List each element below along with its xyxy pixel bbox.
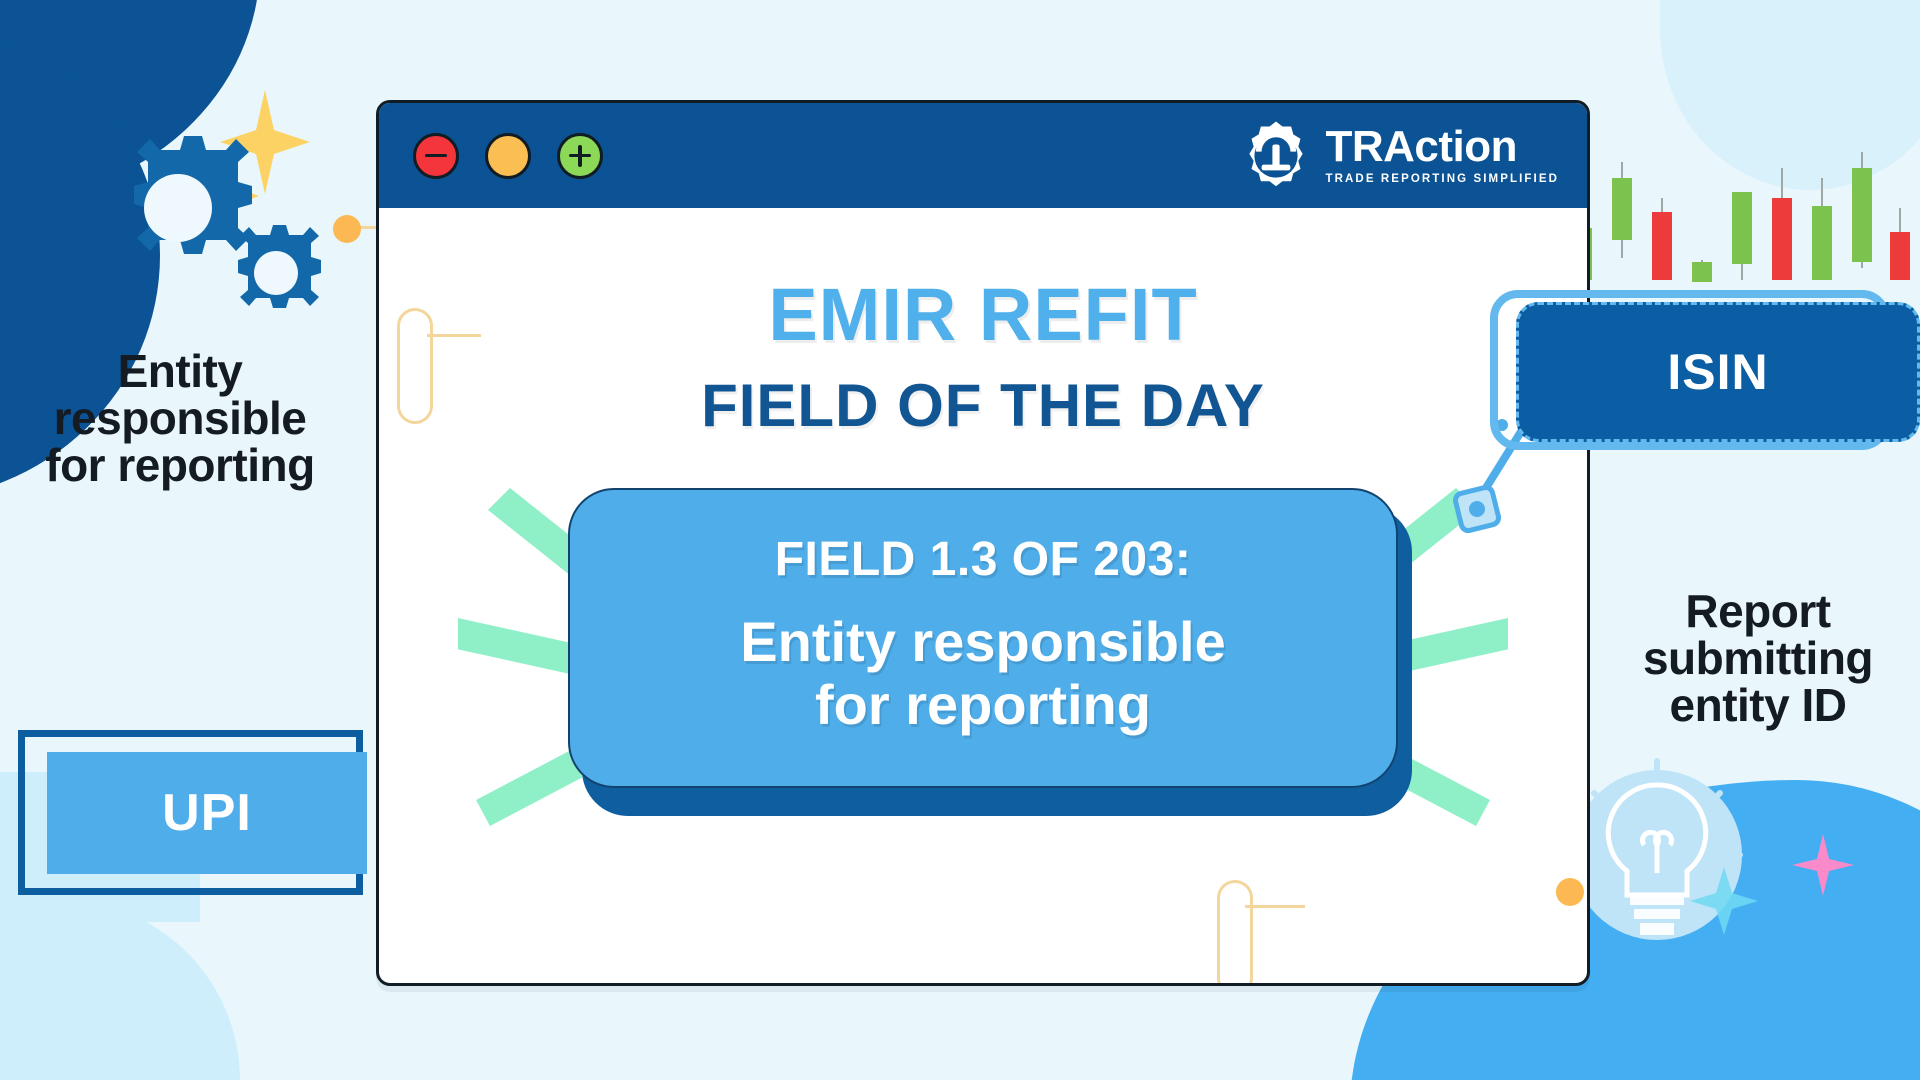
- gear-large-icon: [134, 136, 252, 254]
- field-name: Entity responsible for reporting: [740, 611, 1225, 736]
- field-card-wrapper: FIELD 1.3 OF 203: Entity responsible for…: [568, 488, 1398, 788]
- minus-icon: [425, 154, 447, 158]
- traction-wordmark: TRAction TRADE REPORTING SIMPLIFIED: [1326, 125, 1560, 186]
- connector-pill-line-left: [427, 334, 481, 337]
- connector-pill-line-bottom: [1245, 905, 1305, 908]
- connector-pill-left: [397, 308, 433, 424]
- gear-cluster-decoration: [60, 60, 380, 330]
- right-label-line1: Report: [1596, 588, 1920, 635]
- label-report-submitting-entity-id: Report submitting entity ID: [1596, 588, 1920, 729]
- page-title: EMIR REFIT: [768, 272, 1197, 357]
- isin-badge[interactable]: ISIN: [1516, 302, 1920, 442]
- gear-small-icon: [238, 225, 321, 308]
- sparkle-pink-icon: [1788, 830, 1858, 900]
- window-controls: [413, 133, 603, 179]
- traction-logo[interactable]: TRAction TRADE REPORTING SIMPLIFIED: [1240, 120, 1560, 192]
- candlestick-chart-icon: [1560, 150, 1920, 295]
- sparkle-large-icon: [220, 90, 310, 194]
- background-blob-top-left: [0, 0, 260, 200]
- new-window-button[interactable]: [557, 133, 603, 179]
- minimize-button[interactable]: [413, 133, 459, 179]
- field-card: FIELD 1.3 OF 203: Entity responsible for…: [568, 488, 1398, 788]
- upi-badge[interactable]: UPI: [47, 752, 367, 874]
- maximize-button[interactable]: [485, 133, 531, 179]
- left-label-line2: responsible: [0, 395, 360, 442]
- connector-dot-bottom: [1556, 878, 1584, 906]
- field-name-line1: Entity responsible: [740, 610, 1225, 673]
- sparkle-small-icon: [205, 165, 259, 227]
- logo-tagline: TRADE REPORTING SIMPLIFIED: [1326, 174, 1560, 186]
- upi-badge-label: UPI: [162, 783, 252, 843]
- connector-pill-bottom: [1217, 880, 1253, 986]
- right-label-line2: submitting: [1596, 635, 1920, 682]
- isin-badge-label: ISIN: [1667, 343, 1768, 401]
- field-name-line2: for reporting: [815, 673, 1151, 736]
- window-titlebar: TRAction TRADE REPORTING SIMPLIFIED: [379, 103, 1587, 208]
- background-blob-bottom-left: [0, 900, 240, 1080]
- traction-gear-logo-icon: [1240, 120, 1312, 192]
- label-entity-responsible-for-reporting: Entity responsible for reporting: [0, 348, 360, 489]
- left-label-line3: for reporting: [0, 442, 360, 489]
- field-number: FIELD 1.3 OF 203:: [775, 532, 1192, 587]
- right-label-line3: entity ID: [1596, 682, 1920, 729]
- connector-dot-left: [333, 215, 361, 243]
- poster-stage: Entity responsible for reporting Report …: [0, 0, 1920, 1080]
- browser-window: TRAction TRADE REPORTING SIMPLIFIED EMIR…: [376, 100, 1590, 986]
- logo-word: TRAction: [1326, 125, 1560, 169]
- window-content: EMIR REFIT FIELD OF THE DAY FIELD 1.3 OF: [379, 208, 1587, 983]
- lightbulb-icon: [1562, 755, 1772, 985]
- page-subtitle: FIELD OF THE DAY: [701, 371, 1265, 440]
- plus-icon-vertical: [578, 145, 582, 167]
- left-label-line1: Entity: [0, 348, 360, 395]
